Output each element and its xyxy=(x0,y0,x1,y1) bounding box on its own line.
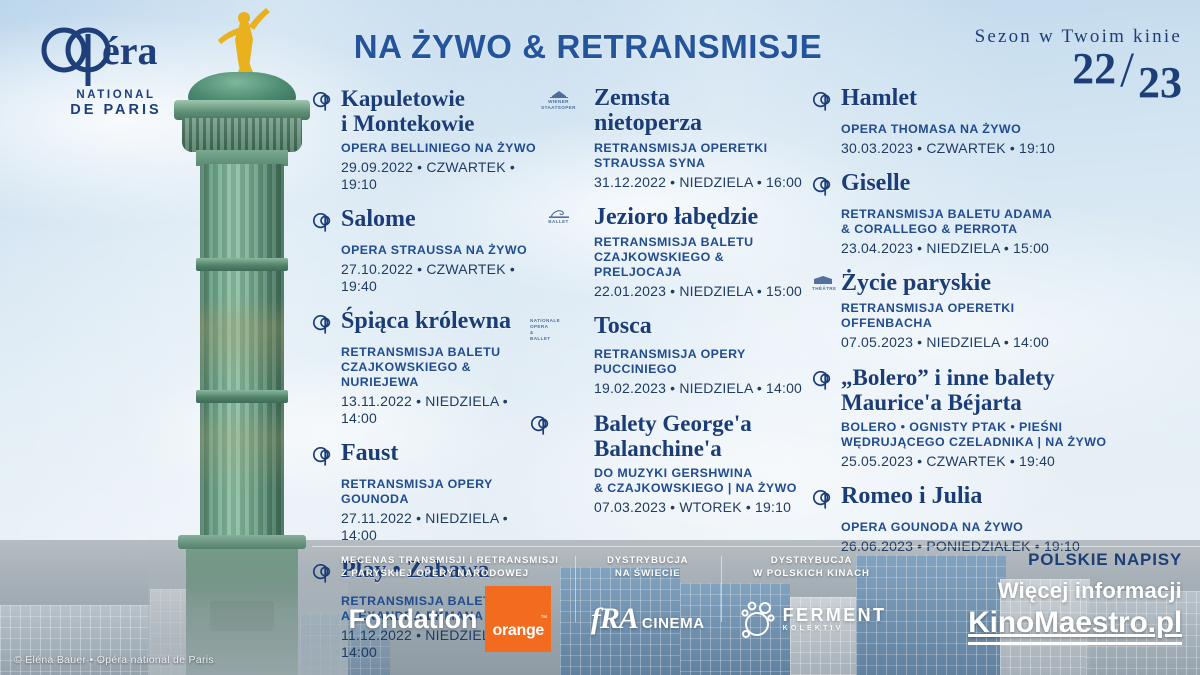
credit-fra-cinema: DYSTRYBUCJANA ŚWIECIE fRA CINEMA xyxy=(575,554,721,640)
column-band-1 xyxy=(196,258,288,271)
orange-label: orange xyxy=(485,622,551,640)
event-date: 22.01.2023 • NIEDZIELA • 15:00 xyxy=(594,283,810,300)
event-date: 23.04.2023 • NIEDZIELA • 15:00 xyxy=(841,240,1192,257)
fondation-text: Fondation xyxy=(349,604,478,634)
event-badge xyxy=(312,86,334,117)
fra-cinema-logo: fRA CINEMA xyxy=(591,598,705,640)
event-badge xyxy=(312,441,334,472)
orange-square-icon: ™ orange xyxy=(485,586,551,652)
event-subtitle: BOLERO • OGNISTY PTAK • PIEŚNIWĘDRUJĄCEG… xyxy=(841,420,1192,450)
event-card[interactable]: SalomeOPERA STRAUSSA NA ŻYWO27.10.2022 •… xyxy=(312,207,537,295)
event-card[interactable]: NATIONALEOPERA&BALLETToscaRETRANSMISJA O… xyxy=(530,314,810,397)
nationale-opera-ballet-logo: NATIONALEOPERA&BALLET xyxy=(530,318,587,342)
event-subtitle: OPERA STRAUSSA NA ŻYWO xyxy=(341,243,537,258)
event-badge xyxy=(812,86,834,117)
ferment-text: FERMENT xyxy=(783,606,887,625)
event-badge: NATIONALEOPERA&BALLET xyxy=(530,314,587,342)
event-card[interactable]: Kapuletowiei MontekowieOPERA BELLINIEGO … xyxy=(312,86,537,193)
event-badge xyxy=(312,207,334,238)
event-title: Giselle xyxy=(841,171,910,196)
event-date: 29.09.2022 • CZWARTEK • 19:10 xyxy=(341,159,537,193)
opera-paris-monogram-icon xyxy=(312,91,333,112)
event-subtitle: DO MUZYKI GERSHWINA& CZAJKOWSKIEGO | NA … xyxy=(594,466,810,496)
event-card[interactable]: THÉÂTREŻycie paryskieRETRANSMISJA OPERET… xyxy=(812,271,1192,351)
footer: MECENAS TRANSMISJI I RETRANSMISJIZ PARYS… xyxy=(0,540,1200,675)
event-subtitle: OPERA THOMASA NA ŻYWO xyxy=(841,122,1192,137)
polish-subtitles-note: POLSKIE NAPISY xyxy=(902,550,1182,570)
bolshoi-ballet-logo: BALLET xyxy=(530,209,587,225)
event-title: Salome xyxy=(341,207,416,232)
event-title: Kapuletowiei Montekowie xyxy=(341,86,475,136)
event-date: 27.11.2022 • NIEDZIELA • 14:00 xyxy=(341,510,537,544)
event-title: Śpiąca królewna xyxy=(341,309,511,334)
event-card[interactable]: GiselleRETRANSMISJA BALETU ADAMA& CORALL… xyxy=(812,171,1192,257)
event-card[interactable]: FaustRETRANSMISJA OPERY GOUNODA27.11.202… xyxy=(312,441,537,544)
column-capital xyxy=(182,118,302,152)
event-title: Faust xyxy=(341,441,398,466)
website-link[interactable]: KinoMaestro.pl xyxy=(968,606,1182,645)
footer-right-info: POLSKIE NAPISY Więcej informacji KinoMae… xyxy=(902,550,1182,645)
column-shaft xyxy=(200,164,284,554)
event-subtitle: RETRANSMISJA BALETUCZAJKOWSKIEGO & NURIE… xyxy=(341,345,537,390)
event-listings: Kapuletowiei MontekowieOPERA BELLINIEGO … xyxy=(312,86,1192,536)
event-card[interactable]: „Bolero” i inne baletyMaurice'a BéjartaB… xyxy=(812,365,1192,470)
event-date: 07.05.2023 • NIEDZIELA • 14:00 xyxy=(841,334,1192,351)
event-badge xyxy=(812,365,834,396)
footer-divider xyxy=(312,546,1200,547)
ferment-kolektiv-logo: FERMENT KOLEKTIV xyxy=(737,598,887,640)
opera-paris-monogram-icon xyxy=(812,489,833,510)
theatre-champs-elysees-logo: THÉÂTRE xyxy=(812,276,834,292)
opera-paris-monogram-icon xyxy=(812,91,833,112)
event-title: Tosca xyxy=(594,314,652,339)
sponsor-credits: MECENAS TRANSMISJI I RETRANSMISJIZ PARYS… xyxy=(325,554,955,640)
wiener-staatsoper-logo: WIENER STAATSOPER xyxy=(530,90,587,111)
event-title: Zemstanietoperza xyxy=(594,86,702,136)
ferment-bubbles-icon xyxy=(737,598,777,640)
event-badge xyxy=(812,171,834,202)
event-title: Balety George'aBalanchine'a xyxy=(594,411,752,461)
event-title: Hamlet xyxy=(841,86,917,111)
event-card[interactable]: HamletOPERA THOMASA NA ŻYWO30.03.2023 • … xyxy=(812,86,1192,157)
event-date: 31.12.2022 • NIEDZIELA • 16:00 xyxy=(594,174,810,191)
genie-de-la-liberte-statue xyxy=(204,2,282,82)
opera-national-de-paris-logo: éra NATIONAL DE PARIS xyxy=(26,24,206,119)
opera-logo-subtitle: NATIONAL DE PARIS xyxy=(26,88,206,119)
event-title: „Bolero” i inne baletyMaurice'a Béjarta xyxy=(841,365,1055,415)
event-badge: THÉÂTRE xyxy=(812,271,834,292)
page-title: NA ŻYWO & RETRANSMISJE xyxy=(318,28,858,66)
event-date: 30.03.2023 • CZWARTEK • 19:10 xyxy=(841,140,1192,157)
event-title: Romeo i Julia xyxy=(841,484,982,509)
event-badge xyxy=(812,484,834,515)
event-date: 07.03.2023 • WTOREK • 19:10 xyxy=(594,499,810,516)
event-date: 27.10.2022 • CZWARTEK • 19:40 xyxy=(341,261,537,295)
event-badge xyxy=(312,309,334,340)
opera-paris-monogram-icon xyxy=(812,370,833,391)
orange-tm: ™ xyxy=(540,615,547,622)
event-subtitle: OPERA BELLINIEGO NA ŻYWO xyxy=(341,141,537,156)
column-band-2 xyxy=(196,390,288,403)
poster-root: éra NATIONAL DE PARIS NA ŻYWO & RETRANSM… xyxy=(0,0,1200,675)
opera-paris-monogram-icon xyxy=(312,446,333,467)
opera-paris-monogram-icon xyxy=(312,212,333,233)
more-info-label: Więcej informacji xyxy=(902,578,1182,604)
opera-paris-monogram-icon xyxy=(530,415,551,436)
event-column-3: HamletOPERA THOMASA NA ŻYWO30.03.2023 • … xyxy=(812,86,1192,569)
opera-paris-monogram-icon xyxy=(312,314,333,335)
svg-text:éra: éra xyxy=(102,28,158,73)
event-subtitle: RETRANSMISJA OPERETKISTRAUSSA SYNA xyxy=(594,141,810,171)
event-subtitle: RETRANSMISJA OPERY GOUNODA xyxy=(341,477,537,507)
event-card[interactable]: Śpiąca królewnaRETRANSMISJA BALETUCZAJKO… xyxy=(312,309,537,427)
credit-ferment-kolektiv: DYSTRYBUCJAW POLSKICH KINACH F xyxy=(721,554,903,640)
event-title: Jezioro łabędzie xyxy=(594,205,758,230)
event-subtitle: RETRANSMISJA BALETU ADAMA& CORALLEGO & P… xyxy=(841,207,1192,237)
event-column-2: WIENER STAATSOPERZemstanietoperzaRETRANS… xyxy=(530,86,810,530)
cinema-text: CINEMA xyxy=(642,615,705,632)
event-date: 25.05.2023 • CZWARTEK • 19:40 xyxy=(841,453,1192,470)
fra-text: fRA xyxy=(591,602,638,636)
photo-credit: © Eléna Bauer • Opéra national de Paris xyxy=(14,654,214,666)
opera-paris-monogram-icon xyxy=(812,176,833,197)
kolektiv-text: KOLEKTIV xyxy=(783,625,844,632)
event-subtitle: RETRANSMISJA BALETUCZAJKOWSKIEGO & PRELJ… xyxy=(594,235,810,280)
fondation-orange-logo: Fondation ™ orange xyxy=(341,598,559,640)
event-card[interactable]: Balety George'aBalanchine'aDO MUZYKI GER… xyxy=(530,411,810,516)
event-subtitle: OPERA GOUNODA NA ŻYWO xyxy=(841,520,1192,535)
opera-wordmark-icon: éra xyxy=(26,24,206,86)
event-title: Życie paryskie xyxy=(841,271,991,296)
event-subtitle: RETRANSMISJA OPERETKIOFFENBACHA xyxy=(841,301,1192,331)
event-date: 19.02.2023 • NIEDZIELA • 14:00 xyxy=(594,380,810,397)
event-badge xyxy=(530,411,587,441)
credit-title: DYSTRYBUCJANA ŚWIECIE xyxy=(591,554,705,580)
event-date: 13.11.2022 • NIEDZIELA • 14:00 xyxy=(341,393,537,427)
event-subtitle: RETRANSMISJA OPERYPUCCINIEGO xyxy=(594,347,810,377)
event-card[interactable]: WIENER STAATSOPERZemstanietoperzaRETRANS… xyxy=(530,86,810,191)
credit-title: MECENAS TRANSMISJI I RETRANSMISJIZ PARYS… xyxy=(341,554,559,580)
credit-fondation-orange: MECENAS TRANSMISJI I RETRANSMISJIZ PARYS… xyxy=(325,554,575,640)
event-card[interactable]: BALLETJezioro łabędzieRETRANSMISJA BALET… xyxy=(530,205,810,300)
event-badge: BALLET xyxy=(530,205,587,225)
credit-title: DYSTRYBUCJAW POLSKICH KINACH xyxy=(737,554,887,580)
event-badge: WIENER STAATSOPER xyxy=(530,86,587,111)
season-label: Sezon w Twoim kinie xyxy=(922,26,1182,48)
